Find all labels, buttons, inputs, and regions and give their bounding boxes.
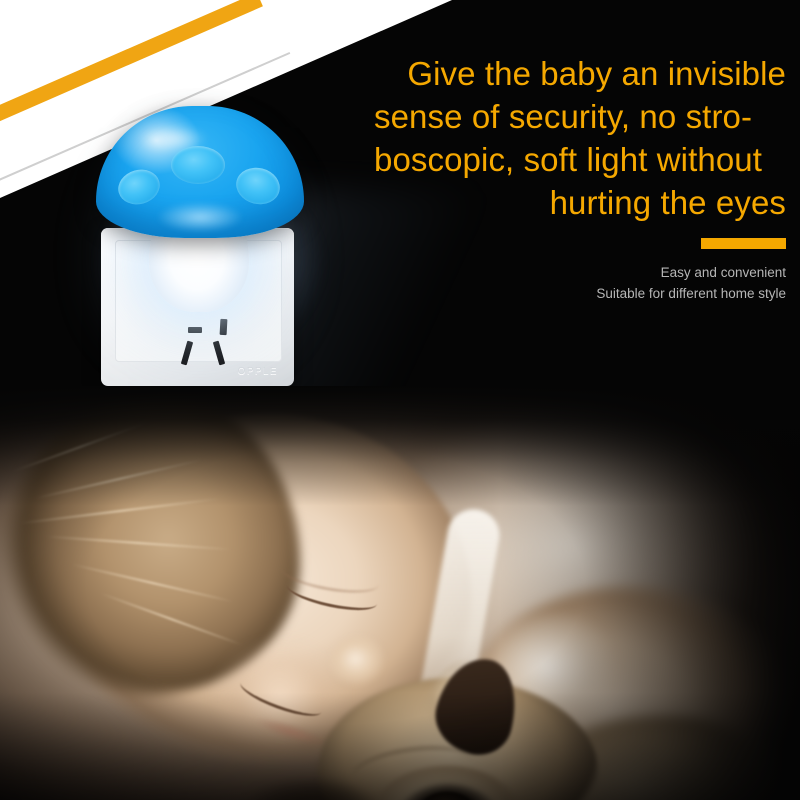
top-banner-panel: OPPLE Give the baby an invisible sense o… (0, 0, 800, 400)
subtext-line-2: Suitable for different home style (366, 283, 786, 304)
accent-divider-bar (701, 238, 786, 249)
subtext-block: Easy and convenient Suitable for differe… (366, 262, 786, 304)
headline-line-3: boscopic, soft light without (374, 138, 786, 181)
subtext-line-1: Easy and convenient (366, 262, 786, 283)
mushroom-underglow (140, 192, 260, 234)
outlet-brand-label: OPPLE (238, 366, 278, 377)
lifestyle-photo-sleeping-baby (0, 386, 800, 800)
outlet-slot-angled-left (181, 341, 193, 366)
mushroom-night-light (96, 96, 304, 326)
headline-line-1: Give the baby an invisible (374, 52, 786, 95)
outlet-slot-flat-left (188, 327, 202, 333)
baby-nose (330, 636, 388, 688)
headline-line-2: sense of security, no stro- (374, 95, 786, 138)
mushroom-spot-center (171, 146, 225, 184)
headline-line-4: hurting the eyes (374, 181, 786, 224)
outlet-slot-angled-right (213, 341, 225, 366)
product-advertisement-poster: OPPLE Give the baby an invisible sense o… (0, 0, 800, 800)
headline-text: Give the baby an invisible sense of secu… (374, 52, 786, 224)
